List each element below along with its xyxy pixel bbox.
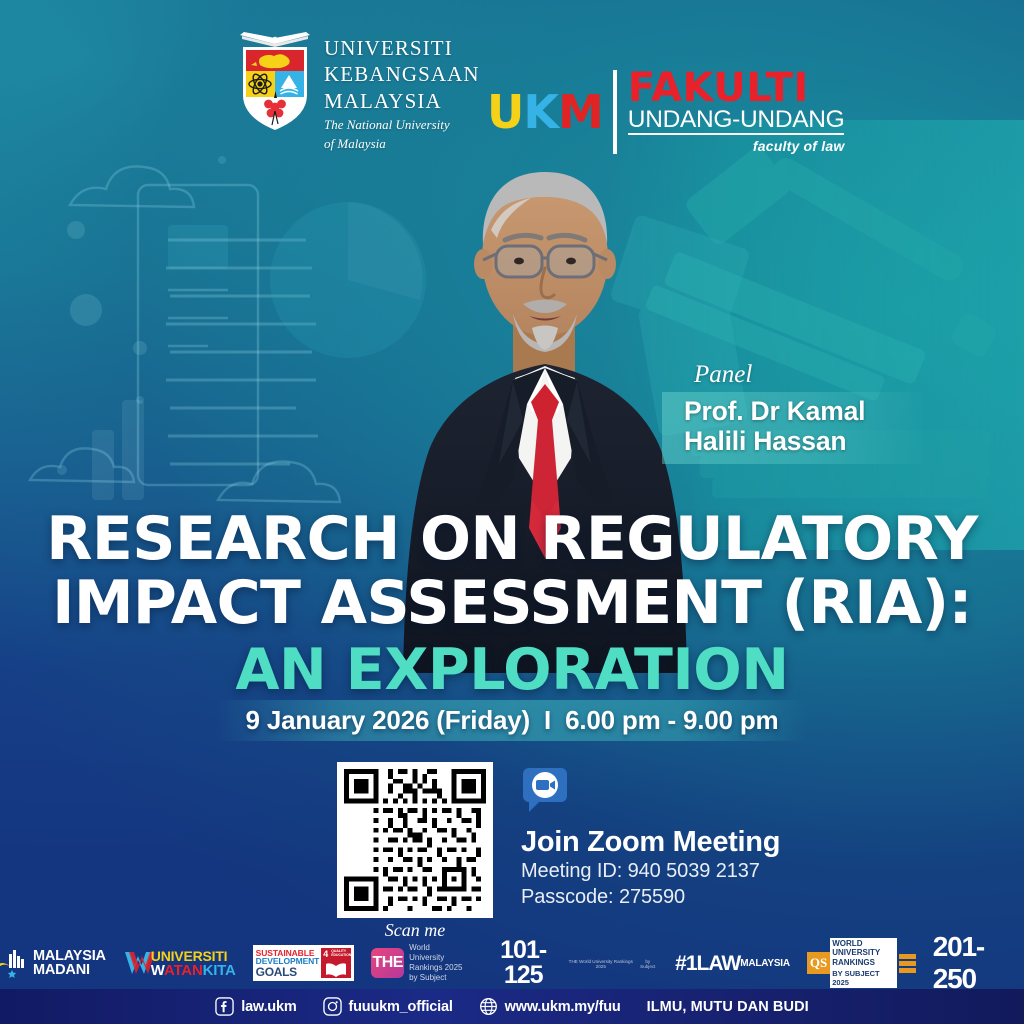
qs-badge: QS — [807, 952, 830, 974]
the-rankings-logo: THE World University Rankings 2025 by Su… — [371, 943, 465, 984]
event-title: RESEARCH ON REGULATORY IMPACT ASSESSMENT… — [0, 508, 1024, 706]
panel-name-line1: Prof. Dr Kamal — [684, 397, 922, 427]
schedule-inner: 9 January 2026 (Friday) I 6.00 pm - 9.00… — [216, 700, 809, 741]
the-logo-mark: THE — [371, 948, 404, 978]
title-line3: AN EXPLORATION — [0, 635, 1024, 706]
number-one-law-badge: #1LAW MALAYSIA — [675, 953, 790, 974]
qs-text-block: WORLD UNIVERSITY RANKINGS BY SUBJECT 202… — [830, 938, 896, 988]
instagram-label: fuuukm_official — [349, 999, 453, 1015]
watan-kita-atan: ATAN — [164, 962, 203, 979]
qr-code[interactable] — [337, 762, 493, 918]
poster-header: UNIVERSITI KEBANGSAAN MALAYSIA The Natio… — [0, 22, 1024, 142]
number-one-law-line1: #1LAW — [675, 953, 740, 974]
zoom-video-icon — [521, 766, 569, 814]
sdg-book-icon — [321, 954, 351, 984]
sdg-line3: GOALS — [256, 966, 320, 978]
title-line2: IMPACT ASSESSMENT (RIA): — [0, 572, 1024, 636]
watan-kita-line2: WATANKITA — [151, 963, 236, 978]
panel-label: Panel — [662, 362, 922, 387]
event-schedule: 9 January 2026 (Friday) I 6.00 pm - 9.00… — [0, 700, 1024, 741]
poster-footer: law.ukm fuuukm_official www.ukm.my/fuu I… — [0, 989, 1024, 1024]
ukm-crest-icon — [236, 27, 314, 133]
qs-letters: QS — [810, 955, 827, 970]
the-text-line3: by Subject — [409, 973, 465, 983]
the-logo-text: World University Rankings 2025 by Subjec… — [409, 943, 465, 984]
universiti-watan-kita-logo: UNIVERSITI WATANKITA — [123, 948, 236, 978]
title-line1: RESEARCH ON REGULATORY — [0, 508, 1024, 572]
event-date: 9 January 2026 (Friday) — [246, 705, 530, 735]
schedule-separator: I — [537, 705, 558, 735]
zoom-passcode: Passcode: 275590 — [521, 885, 851, 911]
facebook-icon — [215, 997, 234, 1016]
qs-subject-year: BY SUBJECT 2025 — [830, 968, 896, 988]
panel-name-band: Prof. Dr Kamal Halili Hassan — [662, 392, 922, 464]
website-link[interactable]: www.ukm.my/fuu — [479, 997, 621, 1016]
watan-kita-wordmark: UNIVERSITI WATANKITA — [151, 949, 236, 978]
qr-code-image — [344, 769, 486, 911]
partner-logo-strip: MALAYSIA MADANI UNIVERSITI WATANKITA SUS… — [0, 937, 1024, 989]
qs-line3: RANKINGS — [832, 958, 894, 967]
sdg-goal-4-tile: 4 QUALITY EDUCATION — [321, 948, 351, 978]
event-time: 6.00 pm - 9.00 pm — [565, 705, 778, 735]
the-rank-range: 101-125 THE World University Rankings 20… — [482, 938, 658, 988]
instagram-icon — [323, 997, 342, 1016]
poster-canvas: UNIVERSITI KEBANGSAAN MALAYSIA The Natio… — [0, 0, 1024, 1024]
madani-line1: MALAYSIA — [33, 949, 106, 964]
madani-line2: MADANI — [33, 963, 106, 978]
malaysia-madani-logo: MALAYSIA MADANI — [0, 948, 106, 978]
madani-wordmark: MALAYSIA MADANI — [33, 949, 106, 978]
madani-mark-icon — [0, 948, 28, 978]
ukm-name-line3: MALAYSIA — [324, 88, 480, 114]
watan-kita-line1: UNIVERSITI — [151, 949, 236, 963]
panel-name-line2: Halili Hassan — [684, 427, 922, 457]
number-one-law-line2: MALAYSIA — [740, 959, 790, 969]
the-text-line1: World University — [409, 943, 465, 963]
zoom-meeting-info: Join Zoom Meeting Meeting ID: 940 5039 2… — [521, 766, 851, 910]
qs-line2: UNIVERSITY — [832, 948, 894, 957]
university-motto: ILMU, MUTU DAN BUDI — [647, 999, 809, 1015]
facebook-label: law.ukm — [241, 999, 296, 1015]
ukm-name-line1: UNIVERSITI — [324, 35, 480, 61]
globe-icon — [479, 997, 498, 1016]
the-text-line2: Rankings 2025 — [409, 963, 465, 973]
the-rank-caption2: by Subject — [637, 959, 658, 970]
zoom-meeting-id: Meeting ID: 940 5039 2137 — [521, 859, 851, 885]
qs-line1: WORLD — [832, 939, 894, 948]
fakulti-text: FAKULTI — [628, 70, 845, 107]
qs-rank-range: 201-250 — [933, 931, 1024, 995]
instagram-handle[interactable]: fuuukm_official — [323, 997, 453, 1016]
sdg-wordmark: SUSTAINABLE DEVELOPMENT GOALS — [256, 949, 320, 978]
watan-kita-w: W — [151, 962, 164, 979]
sdg-logo: SUSTAINABLE DEVELOPMENT GOALS 4 QUALITY … — [253, 945, 355, 981]
the-rank-value: 101-125 — [482, 938, 564, 988]
facebook-handle[interactable]: law.ukm — [215, 997, 296, 1016]
qs-bars — [897, 954, 916, 973]
website-label: www.ukm.my/fuu — [505, 999, 621, 1015]
qs-logo-row: QS WORLD UNIVERSITY RANKINGS BY SUBJECT … — [807, 938, 916, 988]
qs-rows: WORLD UNIVERSITY RANKINGS — [830, 938, 896, 968]
ukm-name-line2: KEBANGSAAN — [324, 61, 480, 87]
the-rank-caption1: THE World University Rankings 2025 — [564, 959, 637, 970]
qs-rankings-logo: QS WORLD UNIVERSITY RANKINGS BY SUBJECT … — [807, 938, 916, 988]
join-zoom-heading: Join Zoom Meeting — [521, 826, 851, 859]
panel-speaker-block: Panel Prof. Dr Kamal Halili Hassan — [662, 362, 922, 464]
watan-kita-kita: KITA — [203, 962, 236, 979]
